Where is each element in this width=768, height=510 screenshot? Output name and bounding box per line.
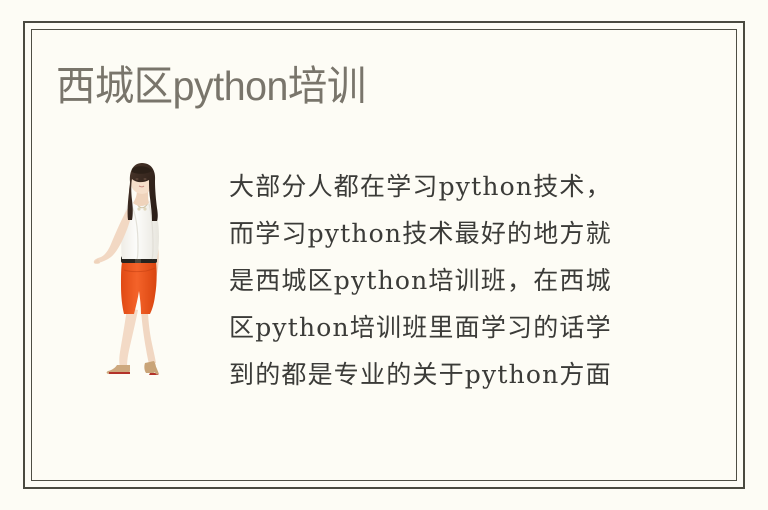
woman-illustration xyxy=(86,160,196,385)
body-line: 大部分人都在学习python技术， xyxy=(229,163,661,210)
woman-figure-graphic xyxy=(86,160,196,385)
body-line: 到的都是专业的关于python方面 xyxy=(229,351,661,398)
eye-left xyxy=(136,178,139,180)
body-paragraph: 大部分人都在学习python技术， 而学习python技术最好的地方就 是西城区… xyxy=(229,163,661,398)
page-root: 西城区python培训 xyxy=(0,0,768,510)
necklace-bead-2 xyxy=(143,207,146,210)
content-area: 大部分人都在学习python技术， 而学习python技术最好的地方就 是西城区… xyxy=(0,0,768,510)
body-line: 区python培训班里面学习的话学 xyxy=(229,304,661,351)
necklace-bead xyxy=(137,207,140,210)
body-line: 是西城区python培训班，在西城 xyxy=(229,257,661,304)
eye-right xyxy=(144,178,147,180)
leg-right xyxy=(141,309,156,364)
leg-left xyxy=(119,308,138,367)
body-line: 而学习python技术最好的地方就 xyxy=(229,210,661,257)
shoe-left-sole xyxy=(109,372,130,374)
